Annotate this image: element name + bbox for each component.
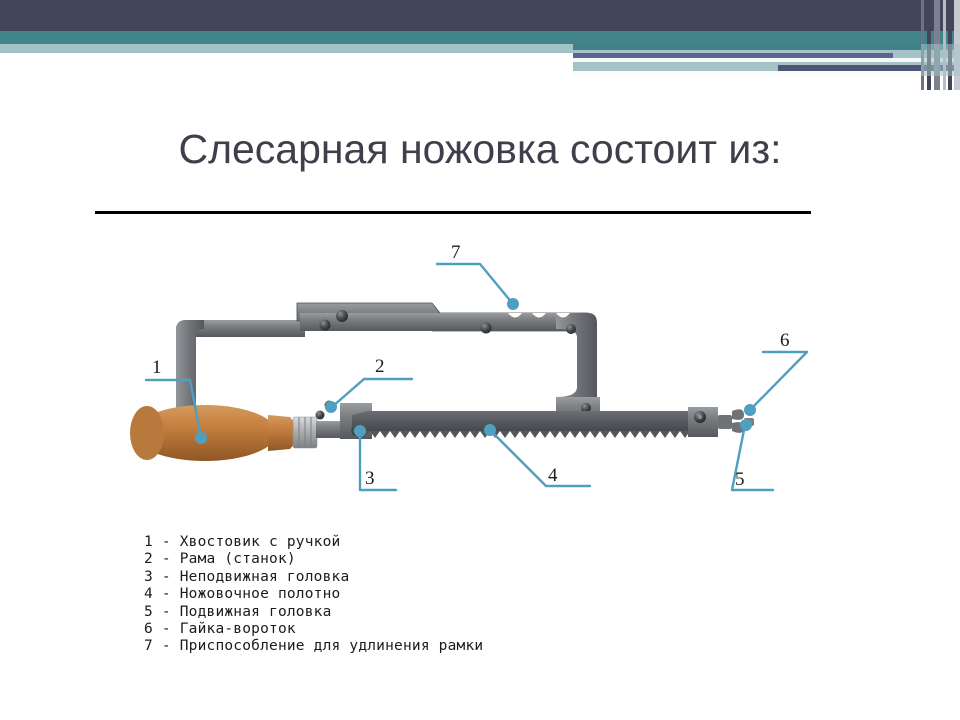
header-light-band-left <box>0 44 573 53</box>
frame-top-arm <box>185 303 588 337</box>
header-teal-band <box>0 31 960 44</box>
legend-item-5: 5 - Подвижная головка <box>144 604 664 621</box>
frame-adjust-notches <box>508 313 570 318</box>
handle-ferrule <box>293 417 317 448</box>
callout-number-4: 4 <box>548 465 558 486</box>
page-title: Слесарная ножовка состоит из: <box>0 126 960 173</box>
callout-number-7: 7 <box>451 242 461 263</box>
callout-number-2: 2 <box>375 356 385 377</box>
callout-number-1: 1 <box>152 357 162 378</box>
legend-item-4: 4 - Ножовочное полотно <box>144 586 664 603</box>
callout-number-3: 3 <box>365 468 375 489</box>
legend-item-1: 1 - Хвостовик с ручкой <box>144 534 664 551</box>
hacksaw-diagram: 1 2 3 4 5 6 7 <box>0 225 960 515</box>
header-vstripe-lower-tint <box>921 44 960 76</box>
header-light-band-3 <box>573 71 960 76</box>
legend-item-3: 3 - Неподвижная головка <box>144 569 664 586</box>
header-navy-band <box>0 0 960 31</box>
parts-legend-list: 1 - Хвостовик с ручкой 2 - Рама (станок)… <box>144 534 664 656</box>
legend-item-2: 2 - Рама (станок) <box>144 551 664 568</box>
legend-item-7: 7 - Приспособление для удлинения рамки <box>144 638 664 655</box>
decorative-header-band <box>0 0 960 90</box>
callout-number-5: 5 <box>735 469 745 490</box>
callout-number-6: 6 <box>780 330 790 351</box>
saw-blade <box>352 411 700 438</box>
movable-head <box>688 407 718 437</box>
legend-item-6: 6 - Гайка-вороток <box>144 621 664 638</box>
title-underline-rule <box>95 211 811 214</box>
wooden-handle <box>130 405 297 461</box>
